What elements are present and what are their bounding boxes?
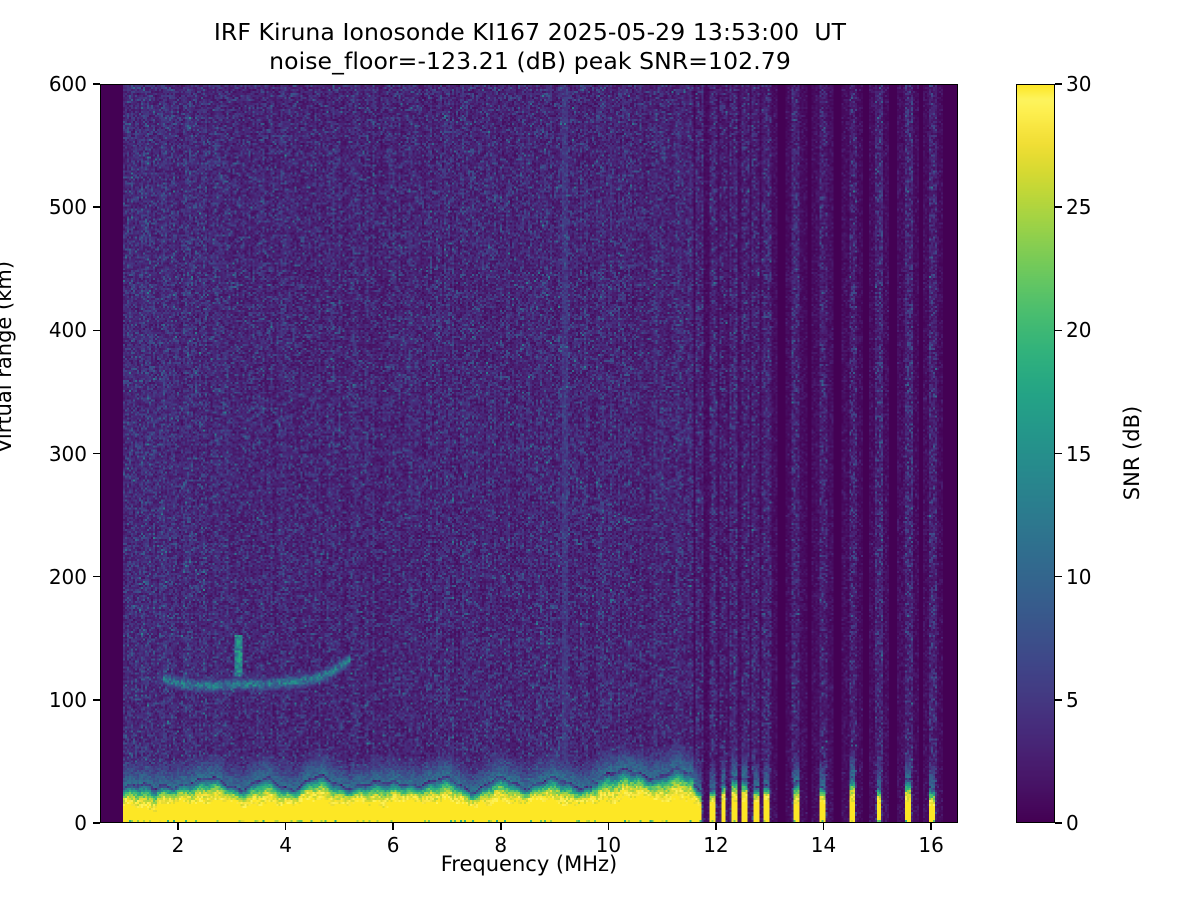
colorbar-tick-mark	[1055, 330, 1062, 332]
y-tick-mark	[93, 453, 100, 455]
x-tick-label: 10	[596, 833, 621, 857]
y-tick-mark	[93, 83, 100, 85]
y-axis-label: Virtual range (km)	[0, 261, 16, 453]
x-tick-label: 4	[279, 833, 292, 857]
x-tick-label: 6	[387, 833, 400, 857]
figure-title: IRF Kiruna Ionosonde KI167 2025-05-29 13…	[0, 18, 1060, 75]
y-tick-label: 500	[5, 195, 87, 219]
y-tick-mark	[93, 330, 100, 332]
y-tick-mark	[93, 822, 100, 824]
ionogram-figure: IRF Kiruna Ionosonde KI167 2025-05-29 13…	[0, 0, 1200, 900]
y-tick-label: 100	[5, 688, 87, 712]
colorbar-gradient	[1017, 85, 1054, 822]
colorbar-tick-mark	[1055, 822, 1062, 824]
colorbar-label: SNR (dB)	[1120, 406, 1144, 500]
ionogram-heatmap	[101, 85, 957, 822]
colorbar-tick-label: 25	[1066, 195, 1091, 219]
x-tick-label: 2	[172, 833, 185, 857]
y-tick-label: 0	[5, 811, 87, 835]
colorbar-tick-mark	[1055, 576, 1062, 578]
x-tick-label: 12	[703, 833, 728, 857]
x-tick-mark	[608, 823, 610, 830]
x-tick-label: 14	[811, 833, 836, 857]
colorbar-tick-mark	[1055, 206, 1062, 208]
y-tick-mark	[93, 699, 100, 701]
colorbar-tick-label: 20	[1066, 318, 1091, 342]
title-line-2: noise_floor=-123.21 (dB) peak SNR=102.79	[0, 47, 1060, 76]
x-tick-label: 8	[494, 833, 507, 857]
colorbar-tick-label: 10	[1066, 565, 1091, 589]
x-tick-mark	[823, 823, 825, 830]
colorbar-tick-label: 30	[1066, 72, 1091, 96]
colorbar[interactable]	[1016, 84, 1055, 823]
y-tick-label: 400	[5, 318, 87, 342]
x-tick-mark	[177, 823, 179, 830]
title-line-1: IRF Kiruna Ionosonde KI167 2025-05-29 13…	[0, 18, 1060, 47]
y-tick-mark	[93, 206, 100, 208]
x-tick-label: 16	[918, 833, 943, 857]
colorbar-tick-label: 15	[1066, 442, 1091, 466]
x-tick-mark	[930, 823, 932, 830]
colorbar-tick-mark	[1055, 699, 1062, 701]
x-tick-mark	[500, 823, 502, 830]
colorbar-tick-label: 0	[1066, 811, 1079, 835]
y-tick-mark	[93, 576, 100, 578]
ionogram-plot-area[interactable]	[100, 84, 958, 823]
colorbar-tick-mark	[1055, 83, 1062, 85]
colorbar-tick-mark	[1055, 453, 1062, 455]
x-axis-label: Frequency (MHz)	[441, 852, 617, 876]
x-tick-mark	[285, 823, 287, 830]
y-tick-label: 600	[5, 72, 87, 96]
x-tick-mark	[715, 823, 717, 830]
y-tick-label: 200	[5, 565, 87, 589]
y-tick-label: 300	[5, 442, 87, 466]
colorbar-tick-label: 5	[1066, 688, 1079, 712]
x-tick-mark	[392, 823, 394, 830]
